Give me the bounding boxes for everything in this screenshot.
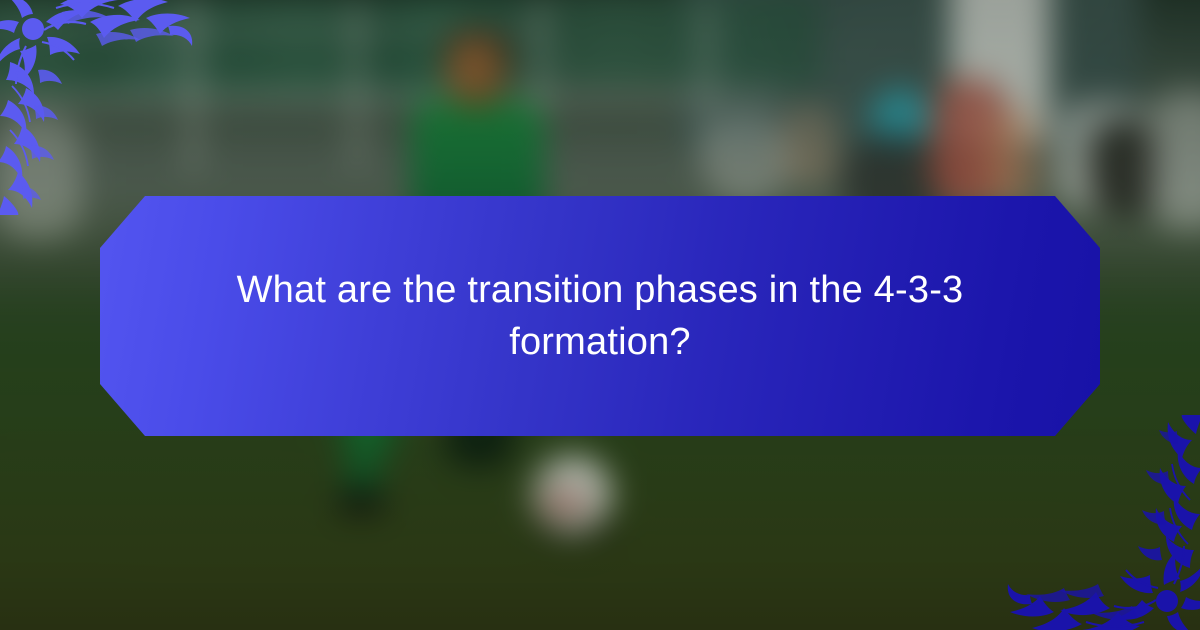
share-card: What are the transition phases in the 4-… <box>0 0 1200 630</box>
title-banner: What are the transition phases in the 4-… <box>100 196 1100 436</box>
page-title: What are the transition phases in the 4-… <box>205 264 995 369</box>
